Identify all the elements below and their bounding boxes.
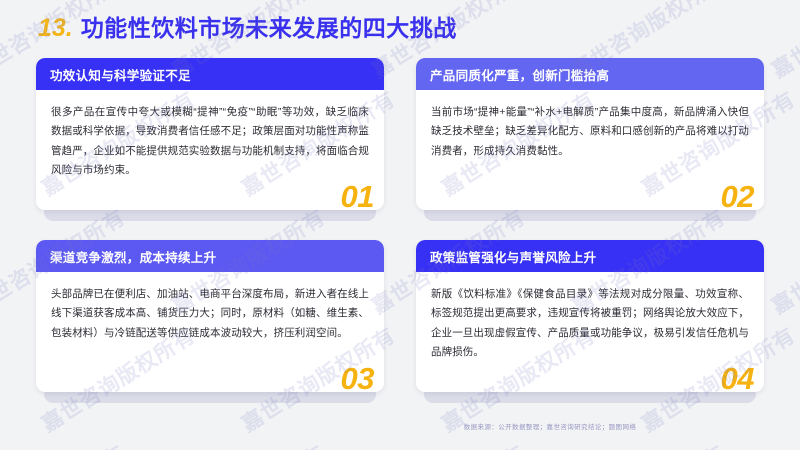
- card-title-2: 产品同质化严重，创新门槛抬高: [430, 65, 609, 84]
- card-description-3: 头部品牌已在便利店、加油站、电商平台深度布局，新进入者在线上线下渠道获客成本高、…: [51, 285, 369, 343]
- title-index-number: 13.: [38, 14, 73, 43]
- card-description-1: 很多产品在宣传中夸大或模糊“提神”“免疫”“助眠”等功效，缺乏临床数据或科学依据…: [51, 103, 369, 181]
- page-title: 13. 功能性饮料市场未来发展的四大挑战: [0, 9, 457, 43]
- card-slot-4: 政策监管强化与声誉风险上升 新版《饮料标准》《保健食品目录》等法规对成分限量、功…: [416, 240, 764, 392]
- card-number-1: 01: [341, 181, 374, 212]
- card-slot-2: 产品同质化严重，创新门槛抬高 当前市场“提神+能量”“补水+电解质”产品集中度高…: [416, 58, 764, 210]
- card-title-1: 功效认知与科学验证不足: [50, 65, 191, 84]
- slide-footer: 数据来源：公开数据整理；嘉世咨询研究结论；题图网络: [0, 416, 800, 434]
- card-slot-1: 功效认知与科学验证不足 很多产品在宣传中夸大或模糊“提神”“免疫”“助眠”等功效…: [36, 58, 384, 210]
- card-body-3: 头部品牌已在便利店、加油站、电商平台深度布局，新进入者在线上线下渠道获客成本高、…: [36, 272, 384, 392]
- challenge-card-2[interactable]: 产品同质化严重，创新门槛抬高 当前市场“提神+能量”“补水+电解质”产品集中度高…: [416, 58, 764, 210]
- challenge-card-3[interactable]: 渠道竞争激烈，成本持续上升 头部品牌已在便利店、加油站、电商平台深度布局，新进入…: [36, 240, 384, 392]
- card-header-2: 产品同质化严重，创新门槛抬高: [416, 58, 764, 90]
- card-description-2: 当前市场“提神+能量”“补水+电解质”产品集中度高，新品牌涌入快但缺乏技术壁垒；…: [431, 103, 749, 161]
- card-slot-3: 渠道竞争激烈，成本持续上升 头部品牌已在便利店、加油站、电商平台深度布局，新进入…: [36, 240, 384, 392]
- card-number-3: 03: [341, 363, 374, 394]
- footer-source-note: 数据来源：公开数据整理；嘉世咨询研究结论；题图网络: [134, 421, 637, 431]
- challenge-card-1[interactable]: 功效认知与科学验证不足 很多产品在宣传中夸大或模糊“提神”“免疫”“助眠”等功效…: [36, 58, 384, 210]
- challenge-card-grid: 功效认知与科学验证不足 很多产品在宣传中夸大或模糊“提神”“免疫”“助眠”等功效…: [36, 58, 764, 392]
- card-body-2: 当前市场“提神+能量”“补水+电解质”产品集中度高，新品牌涌入快但缺乏技术壁垒；…: [416, 90, 764, 210]
- challenge-card-4[interactable]: 政策监管强化与声誉风险上升 新版《饮料标准》《保健食品目录》等法规对成分限量、功…: [416, 240, 764, 392]
- slide-header: 13. 功能性饮料市场未来发展的四大挑战: [0, 0, 800, 52]
- card-description-4: 新版《饮料标准》《保健食品目录》等法规对成分限量、功效宣称、标签规范提出更高要求…: [431, 285, 749, 363]
- slide-root: 13. 功能性饮料市场未来发展的四大挑战 功效认知与科学验证不足 很多产品在宣传…: [0, 0, 800, 450]
- card-header-3: 渠道竞争激烈，成本持续上升: [36, 240, 384, 272]
- card-header-1: 功效认知与科学验证不足: [36, 58, 384, 90]
- card-body-1: 很多产品在宣传中夸大或模糊“提神”“免疫”“助眠”等功效，缺乏临床数据或科学依据…: [36, 90, 384, 210]
- card-number-2: 02: [721, 181, 754, 212]
- card-title-4: 政策监管强化与声誉风险上升: [430, 247, 596, 266]
- card-number-4: 04: [721, 363, 754, 394]
- card-header-4: 政策监管强化与声誉风险上升: [416, 240, 764, 272]
- title-text: 功能性饮料市场未来发展的四大挑战: [81, 9, 457, 43]
- card-body-4: 新版《饮料标准》《保健食品目录》等法规对成分限量、功效宣称、标签规范提出更高要求…: [416, 272, 764, 392]
- card-title-3: 渠道竞争激烈，成本持续上升: [50, 247, 216, 266]
